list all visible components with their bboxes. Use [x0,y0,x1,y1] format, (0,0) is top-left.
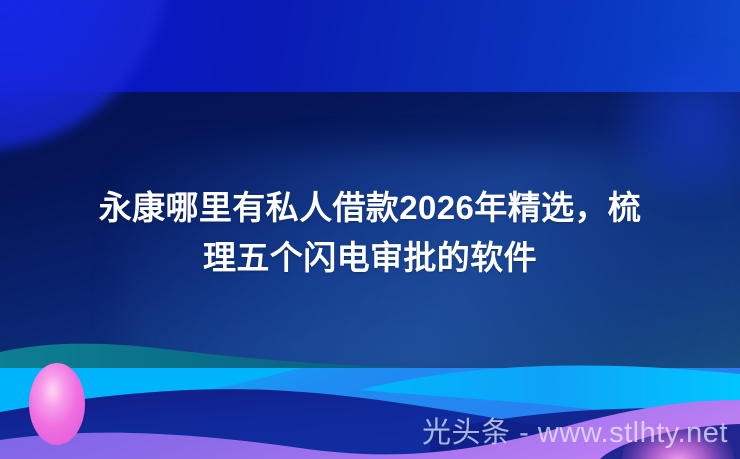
glow-orb-top-left-inner [0,0,130,110]
banner-title: 永康哪里有私人借款2026年精选，梳 理五个闪电审批的软件 [36,183,704,283]
magenta-orb [29,363,85,445]
wave-teal-shape [0,344,430,368]
banner-title-line-2: 理五个闪电审批的软件 [36,233,704,283]
banner-title-line-1: 永康哪里有私人借款2026年精选，梳 [36,183,704,233]
glow-orb-right [620,58,740,198]
glow-orb-top-left [0,0,170,150]
promo-banner: 光头条 - www.stlhty.net 永康哪里有私人借款2026年精选，梳 … [0,0,740,459]
background-top-band [0,0,740,92]
site-watermark: 光头条 - www.stlhty.net [422,409,728,451]
